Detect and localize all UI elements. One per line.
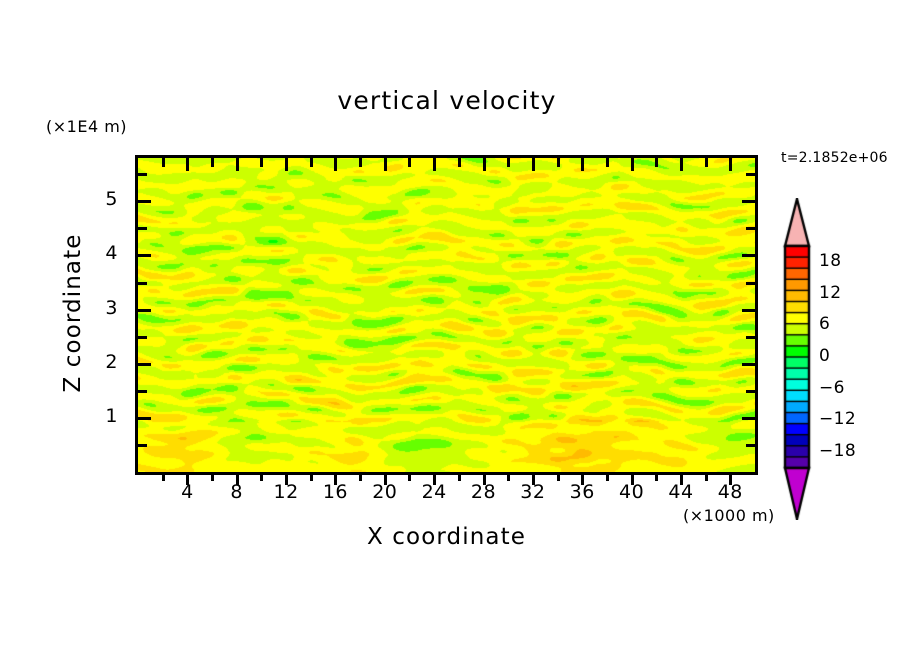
- x-axis-tick: [260, 472, 263, 481]
- timestamp-annotation: t=2.1852e+06: [781, 150, 888, 166]
- y-axis-tick: [138, 254, 151, 257]
- y-axis-tick-right: [746, 173, 755, 176]
- x-axis-tick-top: [680, 158, 683, 171]
- x-axis-tick-top: [729, 158, 732, 171]
- x-axis-tick-top: [705, 158, 708, 167]
- y-axis-tick: [138, 200, 151, 203]
- x-axis-tick: [557, 472, 560, 481]
- colorbar-ticklabel: 0: [819, 346, 830, 366]
- x-axis-tick-top: [507, 158, 510, 167]
- x-axis-tick: [655, 472, 658, 481]
- x-axis-tick-top: [655, 158, 658, 167]
- contour-plot-canvas: [138, 158, 755, 472]
- x-axis-tick: [162, 472, 165, 481]
- x-axis-ticklabel: 12: [261, 481, 311, 503]
- colorbar-canvas: [781, 198, 813, 520]
- y-axis-tick: [138, 227, 147, 230]
- colorbar-ticklabel: −12: [819, 409, 856, 429]
- colorbar-ticklabel: 6: [819, 314, 830, 334]
- x-axis-tick-top: [310, 158, 313, 167]
- y-axis-tick-right: [742, 309, 755, 312]
- y-axis-tick-right: [742, 254, 755, 257]
- x-axis-tick-top: [162, 158, 165, 167]
- y-axis-tick-right: [742, 417, 755, 420]
- x-axis-tick-top: [186, 158, 189, 171]
- colorbar-ticklabel: −6: [819, 378, 845, 398]
- x-axis-ticklabel: 44: [656, 481, 706, 503]
- y-axis-tick: [138, 444, 147, 447]
- x-axis-tick: [458, 472, 461, 481]
- colorbar-ticklabel: −18: [819, 441, 856, 461]
- x-axis-unit-label: (×1000 m): [683, 506, 775, 525]
- x-axis-tick-top: [606, 158, 609, 167]
- y-axis-tick-right: [746, 282, 755, 285]
- x-axis-tick: [507, 472, 510, 481]
- x-axis-tick-top: [483, 158, 486, 171]
- y-axis-tick: [138, 390, 147, 393]
- x-axis-tick-top: [359, 158, 362, 167]
- figure-root: vertical velocity (×1E4 m) (×1000 m) t=2…: [0, 0, 904, 654]
- x-axis-ticklabel: 8: [212, 481, 262, 503]
- plot-frame: [135, 155, 758, 475]
- y-axis-tick-right: [746, 390, 755, 393]
- y-axis-tick: [138, 282, 147, 285]
- y-axis-tick-right: [746, 227, 755, 230]
- x-axis-ticklabel: 32: [508, 481, 558, 503]
- x-axis-ticklabel: 28: [459, 481, 509, 503]
- y-axis-tick-right: [742, 363, 755, 366]
- x-axis-tick-top: [557, 158, 560, 167]
- x-axis-tick: [705, 472, 708, 481]
- x-axis-title: X coordinate: [135, 524, 758, 550]
- y-axis-tick: [138, 363, 151, 366]
- x-axis-ticklabel: 36: [557, 481, 607, 503]
- x-axis-tick-top: [532, 158, 535, 171]
- y-axis-tick: [138, 336, 147, 339]
- colorbar: [781, 198, 813, 520]
- x-axis-ticklabel: 24: [409, 481, 459, 503]
- x-axis-tick: [606, 472, 609, 481]
- y-axis-tick-right: [746, 336, 755, 339]
- y-axis-title: Z coordinate: [60, 193, 86, 433]
- x-axis-tick-top: [458, 158, 461, 167]
- x-axis-ticklabel: 16: [310, 481, 360, 503]
- x-axis-tick-top: [631, 158, 634, 171]
- x-axis-tick-top: [260, 158, 263, 167]
- x-axis-tick-top: [433, 158, 436, 171]
- y-axis-tick: [138, 173, 147, 176]
- x-axis-tick-top: [384, 158, 387, 171]
- y-axis-unit-label: (×1E4 m): [46, 117, 127, 136]
- x-axis-tick: [310, 472, 313, 481]
- x-axis-tick: [211, 472, 214, 481]
- x-axis-tick-top: [408, 158, 411, 167]
- y-axis-tick: [138, 417, 151, 420]
- page-title: vertical velocity: [0, 86, 904, 115]
- x-axis-ticklabel: 48: [705, 481, 755, 503]
- x-axis-tick-top: [334, 158, 337, 171]
- x-axis-tick: [408, 472, 411, 481]
- x-axis-ticklabel: 20: [360, 481, 410, 503]
- y-axis-tick: [138, 309, 151, 312]
- y-axis-tick-right: [742, 200, 755, 203]
- x-axis-tick-top: [236, 158, 239, 171]
- x-axis-tick: [359, 472, 362, 481]
- colorbar-ticklabel: 18: [819, 251, 841, 271]
- x-axis-tick-top: [581, 158, 584, 171]
- x-axis-tick-top: [211, 158, 214, 167]
- x-axis-tick-top: [285, 158, 288, 171]
- x-axis-ticklabel: 40: [607, 481, 657, 503]
- y-axis-tick-right: [746, 444, 755, 447]
- x-axis-ticklabel: 4: [162, 481, 212, 503]
- colorbar-ticklabel: 12: [819, 283, 841, 303]
- plot-title-text: vertical velocity: [337, 86, 556, 115]
